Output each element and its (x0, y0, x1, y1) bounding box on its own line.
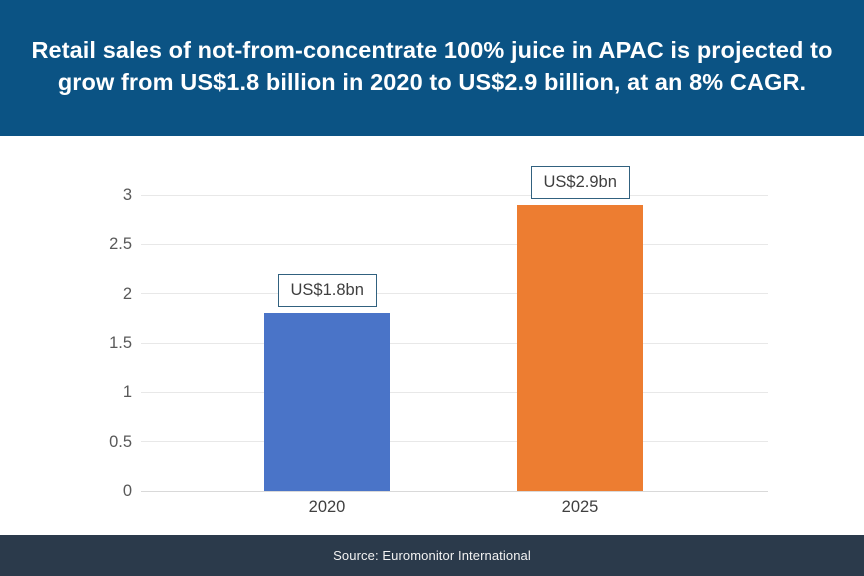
y-axis-tick-label: 0 (90, 483, 132, 500)
chart-container: 00.511.522.53 2020US$1.8bn2025US$2.9bn (0, 136, 864, 535)
bar-2020[interactable] (264, 313, 390, 491)
y-axis-tick-label: 0.5 (90, 434, 132, 451)
x-axis-category-label-2020: 2020 (257, 498, 397, 516)
gridline (141, 491, 768, 492)
y-axis-tick-label: 3 (90, 187, 132, 204)
footer-bar: Source: Euromonitor International (0, 535, 864, 576)
gridline (141, 244, 768, 245)
slide-root: Retail sales of not-from-concentrate 100… (0, 0, 864, 576)
gridline (141, 195, 768, 196)
bar-2025[interactable] (517, 205, 643, 491)
gridline (141, 392, 768, 393)
x-axis-category-label-2025: 2025 (510, 498, 650, 516)
header-banner: Retail sales of not-from-concentrate 100… (0, 0, 864, 136)
gridline (141, 441, 768, 442)
y-axis-tick-label: 1.5 (90, 335, 132, 352)
y-axis: 00.511.522.53 (82, 195, 132, 491)
plot-area (141, 195, 768, 491)
data-label-2020: US$1.8bn (278, 274, 377, 307)
y-axis-tick-label: 2.5 (90, 236, 132, 253)
y-axis-tick-label: 2 (90, 286, 132, 303)
y-axis-tick-label: 1 (90, 384, 132, 401)
gridline (141, 293, 768, 294)
data-label-2025: US$2.9bn (531, 166, 630, 199)
page-title: Retail sales of not-from-concentrate 100… (26, 34, 838, 98)
source-caption: Source: Euromonitor International (333, 548, 531, 564)
gridline (141, 343, 768, 344)
